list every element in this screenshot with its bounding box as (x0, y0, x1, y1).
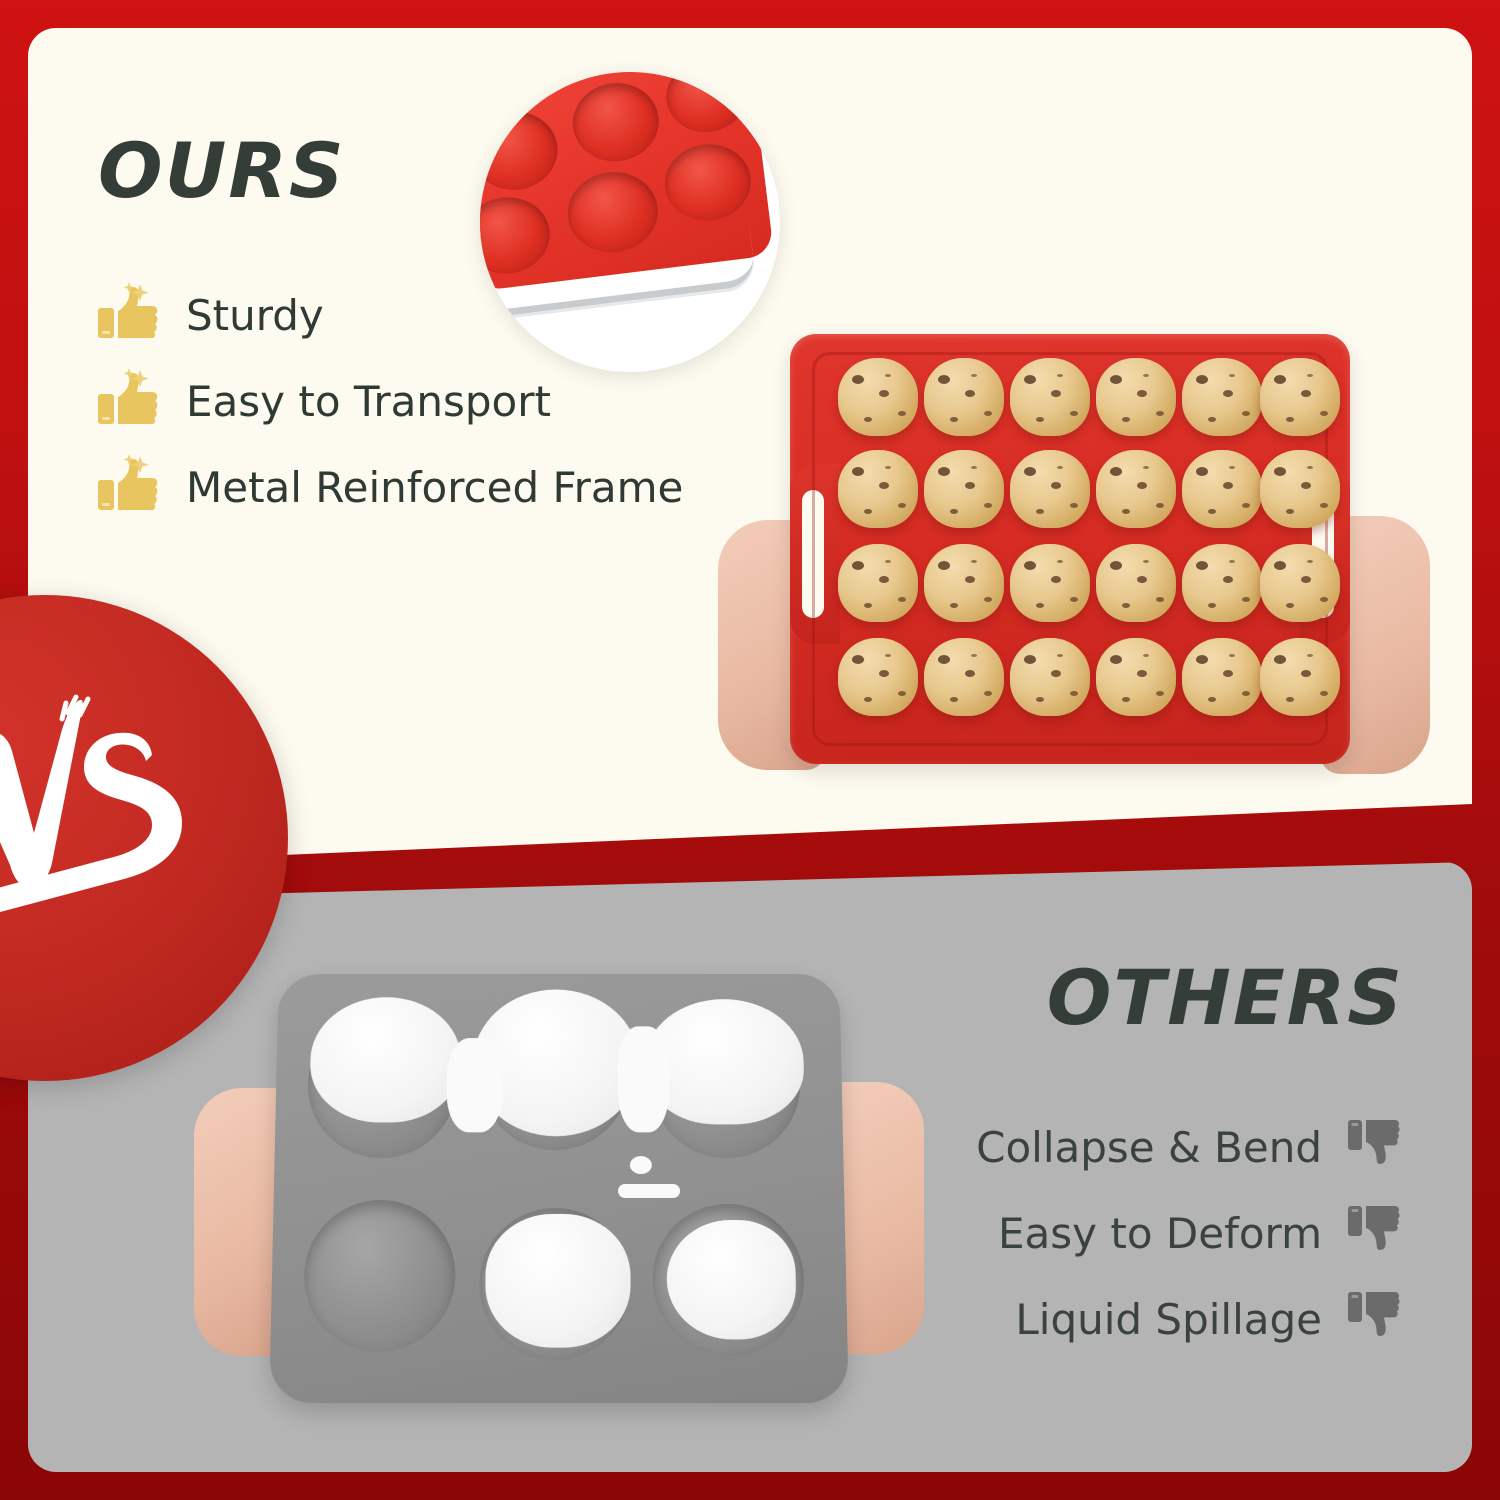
ours-feature-row: Metal Reinforced Frame (96, 444, 736, 530)
thumbs-up-sparkle-icon (96, 454, 160, 520)
ours-feature-label: Sturdy (186, 291, 324, 340)
others-feature-list: Collapse & Bend Easy to Deform Liqui (844, 1104, 1404, 1362)
ours-product-image (754, 334, 1384, 782)
thumbs-up-sparkle-icon (96, 282, 160, 348)
ours-feature-row: Easy to Transport (96, 358, 736, 444)
vs-brush-icon (0, 699, 206, 977)
others-feature-row: Liquid Spillage (844, 1276, 1404, 1362)
others-feature-row: Collapse & Bend (844, 1104, 1404, 1190)
ours-feature-list: Sturdy Easy to Transport (96, 272, 736, 530)
red-muffin-tray (790, 334, 1350, 764)
ours-feature-row: Sturdy (96, 272, 736, 358)
ours-feature-label: Easy to Transport (186, 377, 551, 426)
thumbs-down-icon (1346, 1288, 1404, 1350)
others-feature-label: Liquid Spillage (1015, 1295, 1322, 1344)
ours-heading: OURS (98, 133, 346, 209)
thumbs-down-icon (1346, 1202, 1404, 1264)
others-heading: OTHERS (1047, 960, 1404, 1036)
others-feature-label: Collapse & Bend (976, 1123, 1322, 1172)
others-product-image (228, 962, 908, 1462)
thumbs-down-icon (1346, 1116, 1404, 1178)
thumbs-up-sparkle-icon (96, 368, 160, 434)
others-feature-row: Easy to Deform (844, 1190, 1404, 1276)
others-feature-label: Easy to Deform (998, 1209, 1322, 1258)
comparison-infographic: OURS OTHERS Sturdy (0, 0, 1500, 1500)
ours-feature-label: Metal Reinforced Frame (186, 463, 683, 512)
gray-muffin-pan (269, 974, 849, 1403)
spilled-batter (309, 997, 461, 1122)
